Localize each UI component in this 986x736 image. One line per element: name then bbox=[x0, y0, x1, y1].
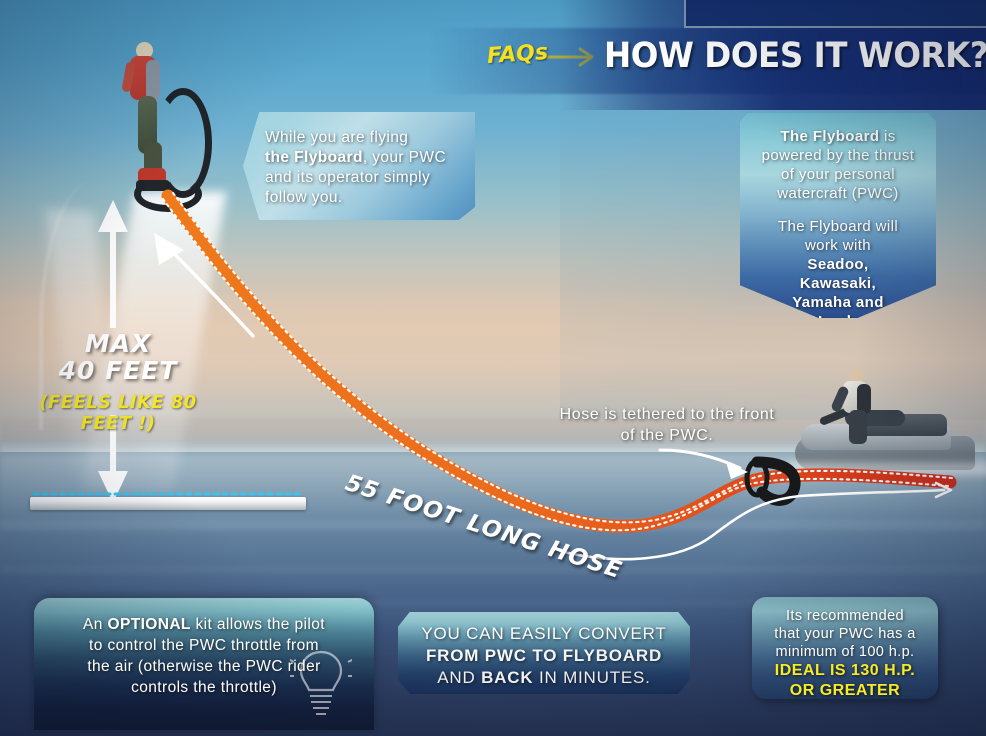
callout-optional-line1: An OPTIONAL kit allows the pilot bbox=[48, 614, 360, 635]
max-height-line1: MAX bbox=[28, 330, 208, 357]
callout-powered-spacer bbox=[750, 203, 926, 217]
callout-flying-bold: the Flyboard bbox=[265, 149, 363, 166]
page-title: HOW DOES IT WORK? bbox=[604, 36, 948, 76]
header-panel bbox=[684, 0, 986, 28]
callout-convert-line3-b: IN MINUTES. bbox=[533, 668, 650, 687]
callout-hp-line1: Its recommended bbox=[760, 607, 930, 625]
callout-flying-line4: follow you. bbox=[265, 188, 465, 208]
callout-flying-line2: the Flyboard, your PWC bbox=[265, 148, 465, 168]
tether-note: Hose is tethered to the front of the PWC… bbox=[556, 404, 778, 446]
callout-hp-line3: minimum of 100 h.p. bbox=[760, 643, 930, 661]
callout-optional-bold: OPTIONAL bbox=[108, 616, 191, 633]
callout-convert-back-bold: BACK bbox=[481, 668, 533, 687]
callout-convert: YOU CAN EASILY CONVERT FROM PWC TO FLYBO… bbox=[398, 612, 690, 694]
callout-powered-line1: The Flyboard is bbox=[750, 127, 926, 146]
callout-optional-line1-b: kit allows the pilot bbox=[191, 616, 325, 633]
callout-hp-highlight1: IDEAL IS 130 H.P. bbox=[760, 661, 930, 681]
max-height-line2: 40 FEET bbox=[28, 357, 208, 384]
callout-convert-line3-a: AND bbox=[437, 668, 481, 687]
brand-seadoo: Seadoo, bbox=[807, 256, 868, 273]
callout-convert-bold: FROM PWC TO FLYBOARD bbox=[426, 646, 662, 665]
max-height-label: MAX 40 FEET bbox=[28, 330, 208, 384]
callout-flying-line3: and its operator simply bbox=[265, 168, 465, 188]
callout-powered-brand2: Kawasaki, bbox=[750, 274, 926, 293]
infographic-canvas: FAQs HOW DOES IT WORK? MAX 40 FEET (FEEL… bbox=[0, 0, 986, 736]
callout-powered: The Flyboard is powered by the thrust of… bbox=[740, 113, 936, 318]
callout-hp-line2: that your PWC has a bbox=[760, 625, 930, 643]
callout-convert-line1: YOU CAN EASILY CONVERT bbox=[406, 623, 682, 645]
callout-powered-line5: The Flyboard will bbox=[750, 217, 926, 236]
callout-convert-line3: AND BACK IN MINUTES. bbox=[406, 667, 682, 689]
callout-flying-text: While you are flying the Flyboard, your … bbox=[243, 112, 475, 208]
callout-powered-line4: watercraft (PWC) bbox=[750, 184, 926, 203]
callout-optional-text: An OPTIONAL kit allows the pilot to cont… bbox=[34, 598, 374, 698]
callout-flying: While you are flying the Flyboard, your … bbox=[243, 112, 475, 220]
callout-optional-line2: to control the PWC throttle from bbox=[48, 635, 360, 656]
callout-powered-line2: powered by the thrust bbox=[750, 146, 926, 165]
callout-powered-line1-rest: is bbox=[879, 128, 895, 145]
brand-kawasaki: Kawasaki, bbox=[800, 275, 876, 292]
callout-hp-highlight2: OR GREATER bbox=[760, 681, 930, 701]
callout-convert-text: YOU CAN EASILY CONVERT FROM PWC TO FLYBO… bbox=[398, 612, 690, 689]
callout-optional-line4: controls the throttle) bbox=[48, 677, 360, 698]
callout-optional-kit: An OPTIONAL kit allows the pilot to cont… bbox=[34, 598, 374, 730]
callout-powered-brand1: Seadoo, bbox=[750, 255, 926, 274]
callout-horsepower: Its recommended that your PWC has a mini… bbox=[752, 597, 938, 699]
callout-horsepower-text: Its recommended that your PWC has a mini… bbox=[752, 597, 938, 701]
tether-pointer-icon bbox=[660, 450, 748, 479]
callout-flying-line2-rest: , your PWC bbox=[363, 149, 446, 166]
callout-convert-line2: FROM PWC TO FLYBOARD bbox=[406, 645, 682, 667]
brand-yamaha: Yamaha and bbox=[792, 294, 884, 311]
callout-powered-line6: work with bbox=[750, 236, 926, 255]
callout-optional-line3: the air (otherwise the PWC rider bbox=[48, 656, 360, 677]
callout-powered-bold: The Flyboard bbox=[780, 128, 879, 145]
callout-flying-line1: While you are flying bbox=[265, 128, 465, 148]
feels-like-note: (FEELS LIKE 80 FEET !) bbox=[18, 392, 218, 434]
callout-optional-line1-a: An bbox=[83, 616, 107, 633]
callout-powered-line3: of your personal bbox=[750, 165, 926, 184]
faqs-label: FAQs bbox=[486, 40, 549, 69]
water-level-ruler bbox=[30, 497, 306, 510]
